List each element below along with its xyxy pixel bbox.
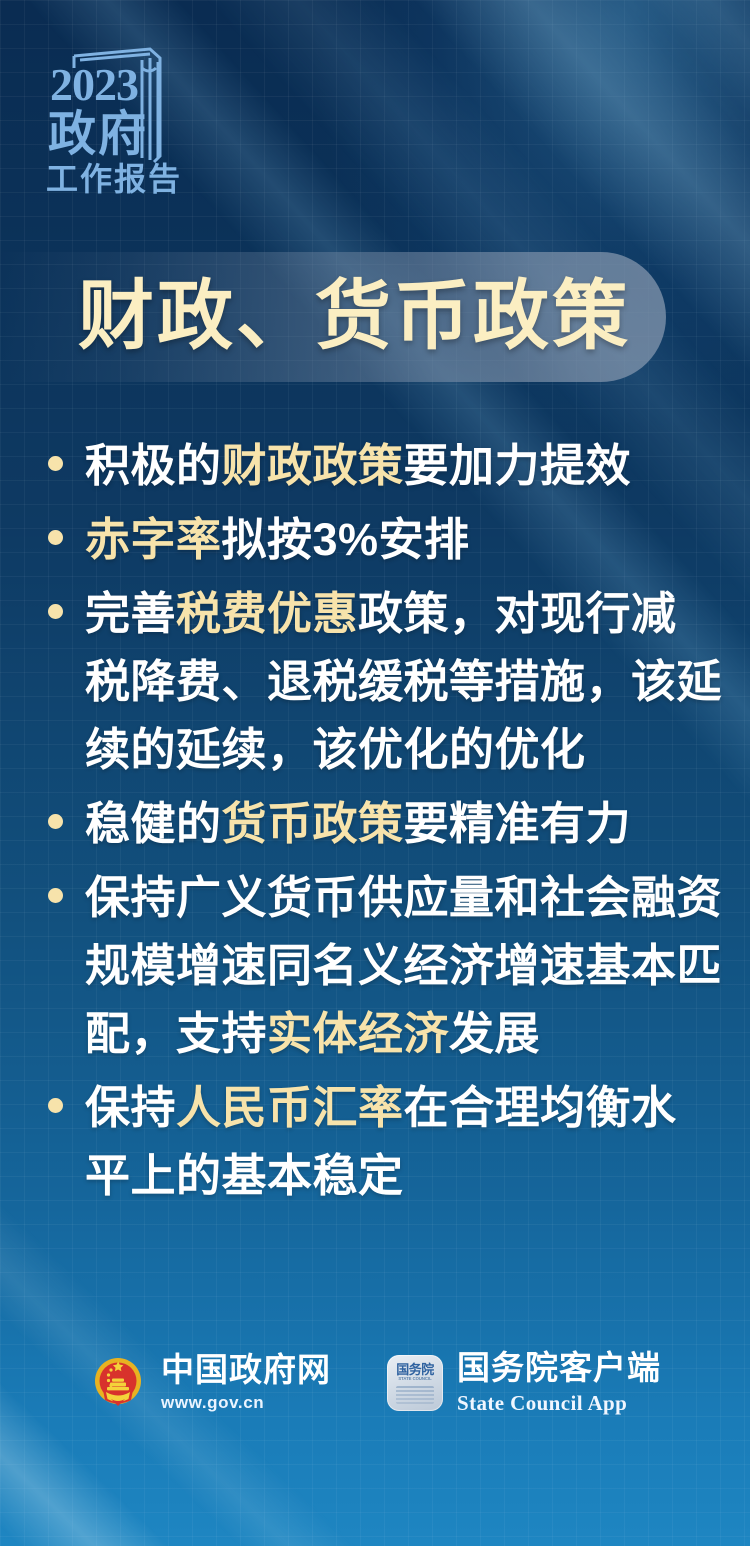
gov-site-text: 中国政府网 www.gov.cn (161, 1352, 331, 1414)
bullet-highlight-segment: 人民币汇率 (176, 1082, 404, 1133)
bullet-plain-segment: 拟按3%安排 (222, 514, 470, 565)
state-council-app-text: 国务院客户端 State Council App (457, 1350, 661, 1416)
bullet-text: 保持人民币汇率在合理均衡水平上的基本稳定 (85, 1074, 722, 1210)
gov-site-name: 中国政府网 (161, 1352, 331, 1389)
bullet-plain-segment: 积极的 (85, 440, 222, 491)
gov-site-brand[interactable]: 中国政府网 www.gov.cn (89, 1352, 331, 1414)
state-council-app-name: 国务院客户端 (457, 1350, 661, 1387)
policy-bullet-list: 积极的财政政策要加力提效赤字率拟按3%安排完善税费优惠政策，对现行减税降费、退税… (40, 432, 722, 1216)
logo-year: 2023 (50, 59, 138, 110)
bullet-highlight-segment: 税费优惠 (176, 588, 358, 639)
logo-line2: 政府 (48, 108, 148, 161)
bullet-plain-segment: 发展 (449, 1008, 540, 1059)
state-council-app-icon: 国务院 STATE COUNCIL (387, 1355, 443, 1411)
bullet-item: 积极的财政政策要加力提效 (40, 432, 722, 500)
app-icon-label: 国务院 (387, 1363, 443, 1376)
bullet-text: 完善税费优惠政策，对现行减税降费、退税缓税等措施，该延续的延续，该优化的优化 (85, 580, 722, 784)
bullet-item: 保持人民币汇率在合理均衡水平上的基本稳定 (40, 1074, 722, 1210)
report-logo: 2023 政府 工作报告 (42, 38, 194, 198)
bullet-text: 积极的财政政策要加力提效 (85, 432, 722, 500)
gate-glyph-icon (396, 1386, 434, 1404)
bullet-item: 保持广义货币供应量和社会融资规模增速同名义经济增速基本匹配，支持实体经济发展 (40, 864, 722, 1068)
bullet-item: 赤字率拟按3%安排 (40, 506, 722, 574)
bullet-highlight-segment: 赤字率 (85, 514, 222, 565)
bullet-highlight-segment: 货币政策 (222, 798, 404, 849)
state-council-app-brand[interactable]: 国务院 STATE COUNCIL 国务院客户端 State Council A… (387, 1350, 661, 1416)
bullet-plain-segment: 要精准有力 (404, 798, 632, 849)
bullet-highlight-segment: 实体经济 (267, 1008, 449, 1059)
bullet-dot-icon (48, 456, 63, 471)
logo-line3: 工作报告 (46, 161, 182, 197)
poster-root: 2023 政府 工作报告 财政、货币政策 积极的财政政策要加力提效赤字率拟按3%… (0, 0, 750, 1546)
bullet-item: 稳健的货币政策要精准有力 (40, 790, 722, 858)
bullet-plain-segment: 保持 (85, 1082, 176, 1133)
app-icon-sublabel: STATE COUNCIL (387, 1377, 443, 1381)
bullet-dot-icon (48, 530, 63, 545)
bullet-highlight-segment: 财政政策 (222, 440, 404, 491)
bullet-text: 稳健的货币政策要精准有力 (85, 790, 722, 858)
bullet-dot-icon (48, 1098, 63, 1113)
bullet-text: 保持广义货币供应量和社会融资规模增速同名义经济增速基本匹配，支持实体经济发展 (85, 864, 722, 1068)
bullet-plain-segment: 完善 (85, 588, 176, 639)
bullet-dot-icon (48, 604, 63, 619)
state-council-app-name-en: State Council App (457, 1390, 661, 1416)
footer: 中国政府网 www.gov.cn 国务院 STATE COUNCIL 国务院客户… (0, 1350, 750, 1416)
bullet-plain-segment: 稳健的 (85, 798, 222, 849)
bullet-plain-segment: 要加力提效 (404, 440, 632, 491)
bullet-dot-icon (48, 888, 63, 903)
national-emblem-icon (89, 1354, 147, 1412)
bullet-dot-icon (48, 814, 63, 829)
page-title: 财政、货币政策 (78, 252, 631, 382)
bullet-item: 完善税费优惠政策，对现行减税降费、退税缓税等措施，该延续的延续，该优化的优化 (40, 580, 722, 784)
bullet-text: 赤字率拟按3%安排 (85, 506, 722, 574)
gov-site-url: www.gov.cn (161, 1392, 331, 1414)
